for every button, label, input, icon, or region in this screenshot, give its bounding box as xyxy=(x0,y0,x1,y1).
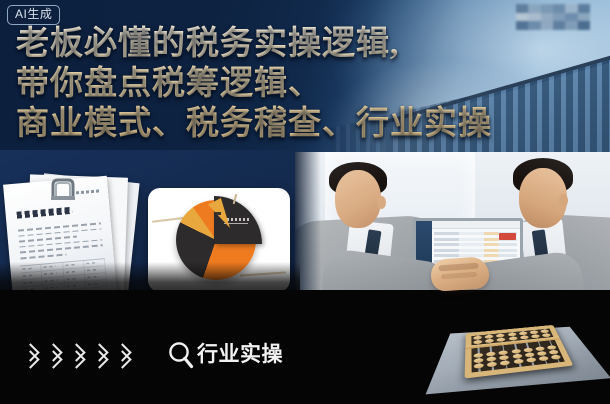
person-right-ear xyxy=(559,194,568,207)
abacus-bead xyxy=(531,334,541,338)
chevron-right-icon xyxy=(93,345,106,367)
redaction-tile xyxy=(516,21,528,30)
redaction-tile xyxy=(528,21,540,30)
redaction-tile xyxy=(541,4,553,13)
industry-practice-label: 行业实操 xyxy=(168,341,283,369)
magnifier-icon xyxy=(168,341,194,369)
redaction-tile xyxy=(553,21,565,30)
abacus-bead xyxy=(473,340,482,345)
abacus-bead xyxy=(473,363,483,369)
handshake-hands xyxy=(430,256,490,292)
redaction-tile xyxy=(553,13,565,22)
chevron-right-icon xyxy=(24,345,37,367)
redaction-tile xyxy=(516,13,528,22)
document-header-mark xyxy=(76,189,100,194)
redaction-tile xyxy=(578,4,590,13)
chevron-right-icon xyxy=(47,345,60,367)
headline-line-1: 老板必懂的税务实操逻辑, xyxy=(16,24,492,64)
abacus-bead xyxy=(520,335,529,339)
document-title-text xyxy=(16,207,72,219)
abacus-bead xyxy=(485,339,494,344)
redaction-tile xyxy=(541,13,553,22)
abacus-bead xyxy=(549,350,560,355)
poster-root: AI生成 老板必懂的税务实操逻辑, 带你盘点税筹逻辑、 商业模式、税务稽查、行业… xyxy=(0,0,610,404)
redaction-tile xyxy=(578,13,590,22)
person-left-ear xyxy=(377,196,386,209)
headline-line-2: 带你盘点税筹逻辑、 xyxy=(16,64,492,104)
blurred-watermark xyxy=(516,4,590,30)
abacus-bead xyxy=(538,356,549,361)
abacus-bead xyxy=(542,333,552,337)
redaction-tile xyxy=(516,4,528,13)
chevron-arrow-group xyxy=(24,345,129,367)
redaction-tile xyxy=(565,13,577,22)
chevron-right-icon xyxy=(116,345,129,367)
abacus-bead xyxy=(500,360,510,366)
document-body-lines xyxy=(18,222,104,263)
redaction-tile xyxy=(528,13,540,22)
redaction-tile xyxy=(541,21,553,30)
ai-generated-badge: AI生成 xyxy=(7,5,60,25)
abacus-bead xyxy=(551,354,562,359)
redaction-tile xyxy=(578,21,590,30)
redaction-tile xyxy=(528,4,540,13)
laptop-toolbar xyxy=(432,221,520,229)
abacus-bead xyxy=(513,359,524,365)
page-title: 老板必懂的税务实操逻辑, 带你盘点税筹逻辑、 商业模式、税务稽查、行业实操 xyxy=(16,24,492,144)
redaction-tile xyxy=(553,4,565,13)
abacus-bead xyxy=(497,338,506,342)
redaction-tile xyxy=(565,4,577,13)
person-left-head xyxy=(335,170,381,228)
binder-clip-icon xyxy=(49,178,77,200)
abacus-bead xyxy=(487,362,497,368)
redaction-tile xyxy=(565,21,577,30)
abacus-bead xyxy=(508,336,517,340)
laptop-accent-block xyxy=(499,233,516,240)
abacus-bead xyxy=(526,357,537,363)
headline-line-3: 商业模式、税务稽查、行业实操 xyxy=(16,104,492,144)
industry-practice-text: 行业实操 xyxy=(197,343,283,367)
chevron-right-icon xyxy=(70,345,83,367)
